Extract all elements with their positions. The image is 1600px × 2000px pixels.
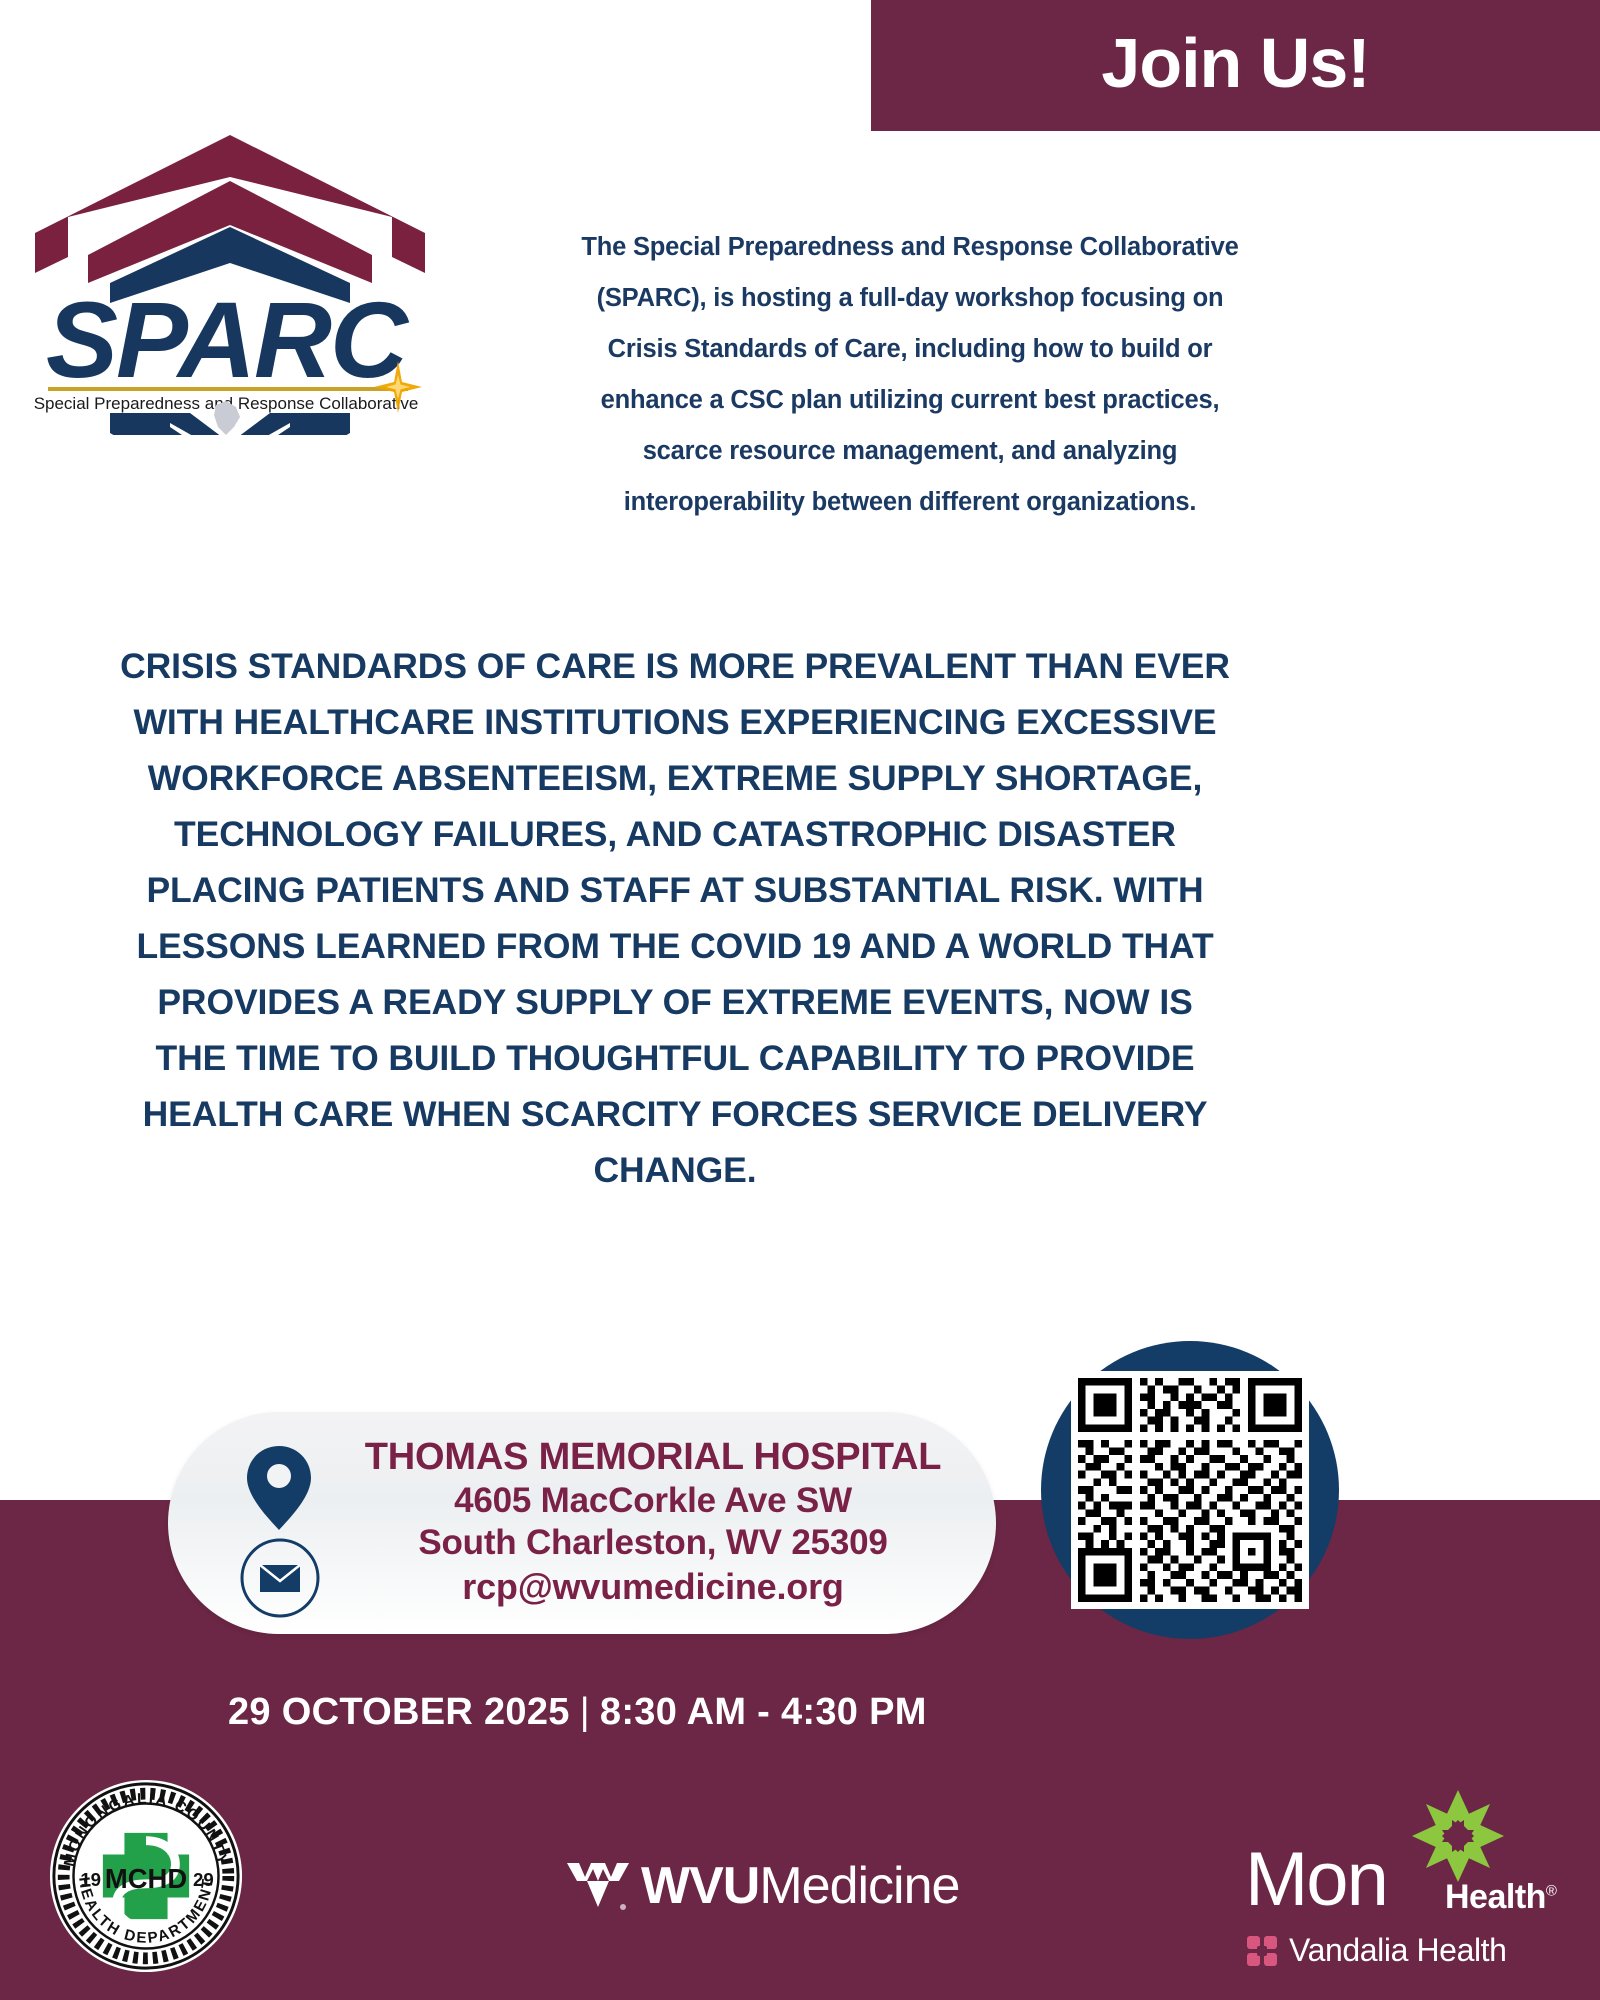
vandalia-health-text: Vandalia Health <box>1289 1932 1507 1969</box>
mon-health-subword: Health® <box>1445 1878 1556 1917</box>
contact-icons <box>230 1436 330 1616</box>
mchd-logo: MCHD MONONGALIA COUNTY HEALTH DEPARTMENT… <box>48 1778 244 1974</box>
wvu-flying-wv-icon <box>565 1857 631 1915</box>
event-time: 8:30 AM - 4:30 PM <box>600 1691 927 1733</box>
wvu-light-text: Medicine <box>759 1857 959 1915</box>
mon-health-logo: Mon Health® Vandalia Health <box>1245 1790 1545 1990</box>
wvu-bold-text: WVU <box>641 1857 759 1915</box>
location-pin-icon <box>244 1444 314 1537</box>
qr-code[interactable] <box>1071 1371 1309 1609</box>
event-separator: | <box>570 1691 600 1733</box>
intro-paragraph: The Special Preparedness and Response Co… <box>560 222 1260 528</box>
page-title: Join Us! <box>1101 28 1369 98</box>
mchd-acronym: MCHD <box>105 1863 187 1894</box>
wvu-medicine-logo: WVUMedicine <box>565 1855 959 1917</box>
envelope-icon <box>238 1536 322 1625</box>
qr-code-circle[interactable] <box>1041 1341 1339 1639</box>
mchd-year-right: 29 <box>193 1869 214 1890</box>
contact-details: THOMAS MEMORIAL HOSPITAL 4605 MacCorkle … <box>343 1434 963 1610</box>
venue-name: THOMAS MEMORIAL HOSPITAL <box>343 1434 963 1480</box>
mon-health-label: Health <box>1445 1878 1546 1916</box>
mon-health-word: Mon <box>1245 1842 1387 1918</box>
contact-email[interactable]: rcp@wvumedicine.org <box>343 1564 963 1610</box>
venue-street: 4605 MacCorkle Ave SW <box>343 1480 963 1522</box>
sparc-wordmark: SPARC <box>46 279 410 400</box>
header-banner: Join Us! <box>871 0 1600 131</box>
mon-health-star-icon <box>1412 1790 1504 1882</box>
main-statement: CRISIS STANDARDS OF CARE IS MORE PREVALE… <box>120 638 1230 1198</box>
vandalia-pinwheel-icon <box>1245 1934 1279 1968</box>
venue-city-state-zip: South Charleston, WV 25309 <box>343 1522 963 1564</box>
contact-card: THOMAS MEMORIAL HOSPITAL 4605 MacCorkle … <box>168 1412 996 1634</box>
mchd-year-left: 19 <box>80 1869 101 1890</box>
gold-rule <box>48 387 408 391</box>
event-datetime: 29 OCTOBER 2025|8:30 AM - 4:30 PM <box>228 1691 927 1734</box>
sparc-logo: SPARC Special Preparedness and Response … <box>20 105 440 435</box>
event-date: 29 OCTOBER 2025 <box>228 1691 570 1733</box>
registered-mark: ® <box>1546 1883 1557 1900</box>
vandalia-health-row: Vandalia Health <box>1245 1932 1507 1969</box>
wvu-wordmark: WVUMedicine <box>641 1860 959 1912</box>
